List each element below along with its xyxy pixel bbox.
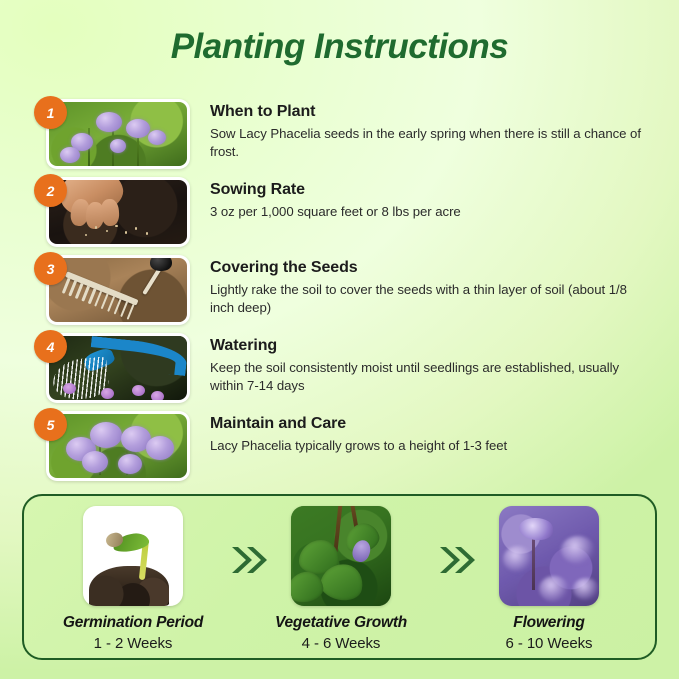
list-item: 5 Maintain and Care: [0, 408, 679, 485]
step-thumbnail: [46, 177, 190, 247]
step-thumbnail: [46, 99, 190, 169]
phacelia-flowers-photo: [49, 102, 187, 166]
list-item: 2: [0, 174, 679, 251]
timeline-stage: Vegetative Growth 4 - 6 Weeks: [246, 506, 436, 652]
hand-sowing-seeds-photo: [49, 180, 187, 244]
purple-bloom-field-photo: [499, 506, 599, 606]
timeline-stage: Germination Period 1 - 2 Weeks: [38, 506, 228, 652]
list-item: 3: [0, 252, 679, 329]
stage-duration: 1 - 2 Weeks: [38, 635, 228, 652]
step-thumbnail: [46, 333, 190, 403]
step-title: Covering the Seeds: [210, 258, 650, 278]
step-text: Watering Keep the soil consistently mois…: [210, 336, 650, 394]
timeline-stage: Flowering 6 - 10 Weeks: [454, 506, 644, 652]
step-number-badge: 1: [34, 96, 67, 129]
stage-duration: 6 - 10 Weeks: [454, 635, 644, 652]
green-foliage-photo: [291, 506, 391, 606]
watering-can-photo: [49, 336, 187, 400]
step-text: Covering the Seeds Lightly rake the soil…: [210, 258, 650, 316]
step-text: Maintain and Care Lacy Phacelia typicall…: [210, 414, 650, 455]
planting-instructions-infographic: Planting Instructions 1: [0, 0, 679, 679]
phacelia-closeup-photo: [49, 414, 187, 478]
steps-list: 1 When to Plan: [0, 96, 679, 486]
stage-label: Germination Period: [38, 614, 228, 632]
list-item: 1 When to Plan: [0, 96, 679, 173]
step-title: Sowing Rate: [210, 180, 650, 200]
step-description: Lacy Phacelia typically grows to a heigh…: [210, 437, 650, 455]
step-title: Maintain and Care: [210, 414, 650, 434]
stage-duration: 4 - 6 Weeks: [246, 635, 436, 652]
step-description: Sow Lacy Phacelia seeds in the early spr…: [210, 125, 650, 160]
step-title: Watering: [210, 336, 650, 356]
growth-timeline-panel: Germination Period 1 - 2 Weeks: [22, 494, 657, 660]
sprouting-seed-photo: [83, 506, 183, 606]
step-description: Keep the soil consistently moist until s…: [210, 359, 650, 394]
step-thumbnail: [46, 411, 190, 481]
step-description: Lightly rake the soil to cover the seeds…: [210, 281, 650, 316]
step-text: When to Plant Sow Lacy Phacelia seeds in…: [210, 102, 650, 160]
step-title: When to Plant: [210, 102, 650, 122]
stage-label: Vegetative Growth: [246, 614, 436, 632]
page-title: Planting Instructions: [0, 24, 679, 70]
step-description: 3 oz per 1,000 square feet or 8 lbs per …: [210, 203, 650, 221]
step-number-badge: 3: [34, 252, 67, 285]
step-text: Sowing Rate 3 oz per 1,000 square feet o…: [210, 180, 650, 221]
step-number-badge: 2: [34, 174, 67, 207]
step-number-badge: 4: [34, 330, 67, 363]
step-number-badge: 5: [34, 408, 67, 441]
list-item: 4 Watering Keep the soil consist: [0, 330, 679, 407]
stage-label: Flowering: [454, 614, 644, 632]
rake-on-soil-photo: [49, 258, 187, 322]
step-thumbnail: [46, 255, 190, 325]
